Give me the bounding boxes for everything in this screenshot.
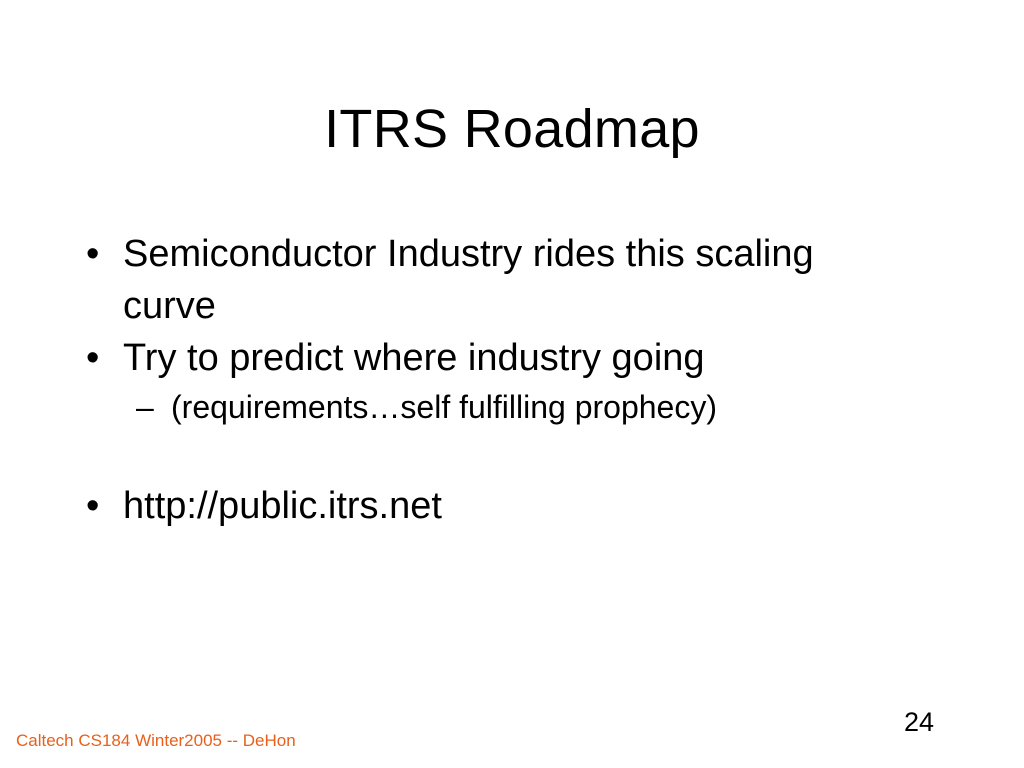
bullet-text: Try to predict where industry going	[123, 332, 884, 384]
bullet-dot-icon: •	[86, 228, 99, 280]
bullet-item: • Semiconductor Industry rides this scal…	[84, 228, 884, 332]
bullet-spacer	[84, 430, 884, 480]
bullet-dot-icon: •	[86, 480, 99, 532]
sub-bullet-item: – (requirements…self fulfilling prophecy…	[84, 384, 884, 430]
bullet-dot-icon: •	[86, 332, 99, 384]
url-text[interactable]: http://public.itrs.net	[123, 480, 884, 532]
footer-credit: Caltech CS184 Winter2005 -- DeHon	[16, 731, 296, 751]
slide-body: • Semiconductor Industry rides this scal…	[84, 228, 884, 532]
slide-canvas: ITRS Roadmap • Semiconductor Industry ri…	[0, 0, 1024, 768]
bullet-item-url[interactable]: • http://public.itrs.net	[84, 480, 884, 532]
page-number: 24	[904, 706, 934, 738]
bullet-dash-icon: –	[136, 384, 154, 430]
bullet-text: Semiconductor Industry rides this scalin…	[123, 228, 884, 332]
bullet-item: • Try to predict where industry going	[84, 332, 884, 384]
sub-bullet-text: (requirements…self fulfilling prophecy)	[171, 384, 884, 430]
slide-title: ITRS Roadmap	[0, 98, 1024, 160]
